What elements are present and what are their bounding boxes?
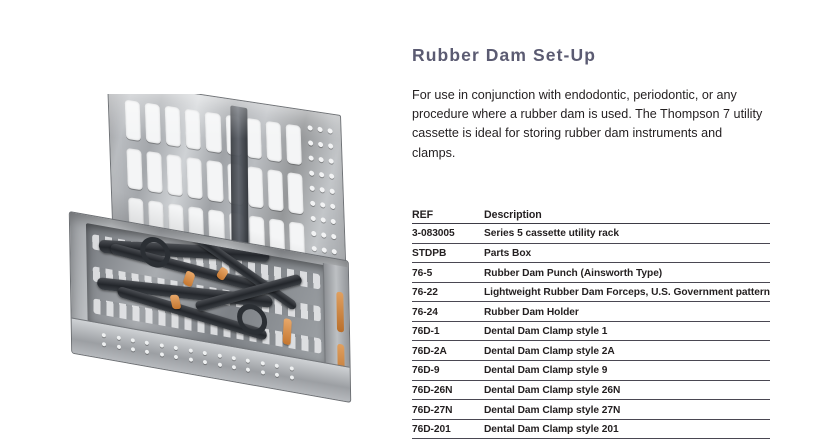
cell-description: Lightweight Rubber Dam Forceps, U.S. Gov… <box>484 282 770 302</box>
column-header-description: Description <box>484 206 770 224</box>
table-body: 3-083005Series 5 cassette utility rackST… <box>412 224 770 439</box>
table-row: 76-24Rubber Dam Holder <box>412 302 770 322</box>
table-row: 76D-2ADental Dam Clamp style 2A <box>412 341 770 361</box>
table-row: STDPBParts Box <box>412 243 770 263</box>
cell-ref: STDPB <box>412 243 484 263</box>
cell-description: Series 5 cassette utility rack <box>484 224 770 244</box>
table-row: 3-083005Series 5 cassette utility rack <box>412 224 770 244</box>
cell-ref: 76-24 <box>412 302 484 322</box>
cassette-photo <box>66 94 378 404</box>
table-row: 76D-201Dental Dam Clamp style 201 <box>412 419 770 439</box>
page-title: Rubber Dam Set-Up <box>412 45 596 66</box>
silicone-retention-bumper <box>283 318 292 346</box>
table-row: 76-22Lightweight Rubber Dam Forceps, U.S… <box>412 282 770 302</box>
table-header: REF Description <box>412 206 770 224</box>
cell-description: Rubber Dam Holder <box>484 302 770 322</box>
cell-description: Dental Dam Clamp style 1 <box>484 321 770 341</box>
table-header-row: REF Description <box>412 206 770 224</box>
cell-description: Dental Dam Clamp style 27N <box>484 400 770 420</box>
cell-ref: 76-22 <box>412 282 484 302</box>
table-row: 76D-1Dental Dam Clamp style 1 <box>412 321 770 341</box>
cell-description: Dental Dam Clamp style 26N <box>484 380 770 400</box>
lid-round-perforations <box>306 125 339 272</box>
specification-table: REF Description 3-083005Series 5 cassett… <box>412 206 770 439</box>
table-row: 76D-26NDental Dam Clamp style 26N <box>412 380 770 400</box>
cell-ref: 76D-26N <box>412 380 484 400</box>
table-row: 76D-27NDental Dam Clamp style 27N <box>412 400 770 420</box>
table-row: 76D-9Dental Dam Clamp style 9 <box>412 361 770 381</box>
cell-ref: 76D-1 <box>412 321 484 341</box>
column-header-ref: REF <box>412 206 484 224</box>
cell-description: Dental Dam Clamp style 201 <box>484 419 770 439</box>
product-image <box>66 94 378 404</box>
cell-ref: 76D-27N <box>412 400 484 420</box>
cell-description: Dental Dam Clamp style 2A <box>484 341 770 361</box>
cell-ref: 76D-201 <box>412 419 484 439</box>
cell-ref: 76D-9 <box>412 361 484 381</box>
forceps-ring-handle <box>140 235 171 270</box>
table-row: 76-5Rubber Dam Punch (Ainsworth Type) <box>412 263 770 283</box>
cell-description: Rubber Dam Punch (Ainsworth Type) <box>484 263 770 283</box>
content-column: Rubber Dam Set-Up For use in conjunction… <box>412 0 792 440</box>
cell-description: Parts Box <box>484 243 770 263</box>
cell-ref: 3-083005 <box>412 224 484 244</box>
silicone-retention-bumper <box>336 291 344 332</box>
cell-ref: 76-5 <box>412 263 484 283</box>
product-description: For use in conjunction with endodontic, … <box>412 86 768 163</box>
cell-description: Dental Dam Clamp style 9 <box>484 361 770 381</box>
cell-ref: 76D-2A <box>412 341 484 361</box>
